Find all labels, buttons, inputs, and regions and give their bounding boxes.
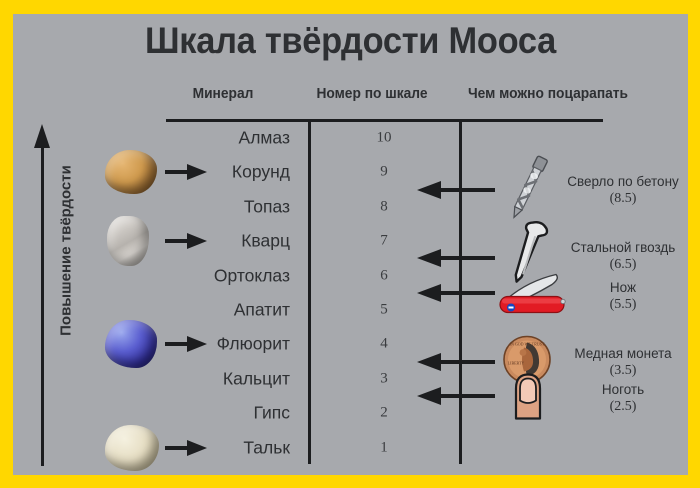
scale-number: 1 <box>334 439 434 456</box>
arrow-right-icon <box>165 165 207 179</box>
scratch-item-name: Стальной гвоздь <box>553 239 688 256</box>
arrow-left-icon <box>417 284 495 302</box>
scale-number: 8 <box>334 198 434 215</box>
scale-number: 3 <box>334 370 434 387</box>
hardness-axis: Повышение твёрдости <box>23 124 83 469</box>
scratch-item-hardness: (6.5) <box>553 256 688 273</box>
axis-label: Повышение твёрдости <box>58 146 75 356</box>
scratch-item-label: Медная монета(3.5) <box>553 345 688 379</box>
scale-number: 9 <box>334 164 434 181</box>
svg-text:IN GOD WE TRUST: IN GOD WE TRUST <box>510 341 545 346</box>
scratch-item-name: Нож <box>553 279 688 296</box>
scratch-item-hardness: (3.5) <box>553 362 688 379</box>
arrow-left-icon <box>417 181 495 199</box>
corundum-specimen <box>105 150 157 194</box>
scratch-item-hardness: (8.5) <box>553 190 688 207</box>
scratch-item-label: Ноготь(2.5) <box>553 381 688 415</box>
scratch-item-name: Ноготь <box>553 381 688 398</box>
mineral-name: Топаз <box>128 196 290 217</box>
scale-number: 6 <box>334 267 434 284</box>
column-header-scale-number: Номер по шкале <box>302 86 443 102</box>
scratch-item-label: Стальной гвоздь(6.5) <box>553 239 688 273</box>
scratch-item-hardness: (2.5) <box>553 398 688 415</box>
fluorite-specimen <box>105 320 157 368</box>
scratch-item-name: Сверло по бетону <box>553 173 688 190</box>
mineral-name: Кварц <box>128 231 290 252</box>
arrow-right-icon <box>165 337 207 351</box>
mineral-name: Апатит <box>128 300 290 321</box>
mineral-name: Гипс <box>128 403 290 424</box>
infographic-canvas: Шкала твёрдости Мооса Минерал Номер по ш… <box>13 14 688 475</box>
arrow-right-icon <box>165 234 207 248</box>
fingernail-icon <box>507 371 549 426</box>
scale-number: 10 <box>334 130 434 147</box>
page-title: Шкала твёрдости Мооса <box>37 20 665 62</box>
column-header-mineral: Минерал <box>161 86 285 102</box>
svg-text:LIBERTY: LIBERTY <box>508 360 525 365</box>
arrow-right-icon <box>165 441 207 455</box>
quartz-specimen <box>107 216 149 266</box>
scale-number: 2 <box>334 405 434 422</box>
axis-line <box>41 144 44 466</box>
talc-specimen <box>105 425 159 471</box>
arrow-left-icon <box>417 387 495 405</box>
scratch-item-label: Сверло по бетону(8.5) <box>553 173 688 207</box>
mineral-name: Кальцит <box>128 368 290 389</box>
arrow-left-icon <box>417 353 495 371</box>
arrow-left-icon <box>417 249 495 267</box>
scratch-item-hardness: (5.5) <box>553 296 688 313</box>
scratch-item-name: Медная монета <box>553 345 688 362</box>
scale-number: 7 <box>334 233 434 250</box>
column-header-scratch-tool: Чем можно поцарапать <box>458 86 639 102</box>
mohs-hardness-scale-infographic: Шкала твёрдости Мооса Минерал Номер по ш… <box>0 0 700 488</box>
scale-number: 4 <box>334 336 434 353</box>
table-divider-left <box>308 122 311 464</box>
table-header-rule <box>166 119 603 122</box>
mineral-name: Алмаз <box>128 128 290 149</box>
scratch-item-label: Нож(5.5) <box>553 279 688 313</box>
scale-number: 5 <box>334 302 434 319</box>
mineral-name: Ортоклаз <box>128 265 290 286</box>
